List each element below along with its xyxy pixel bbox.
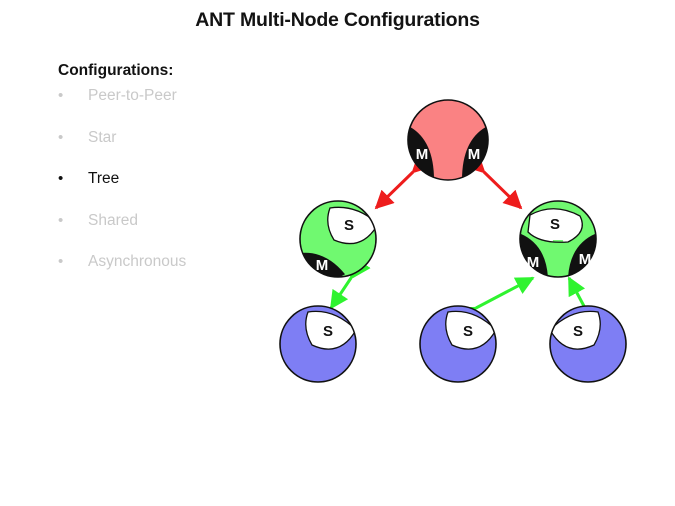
list-item-label: Tree <box>88 171 119 187</box>
node-label-slave: S <box>344 217 354 234</box>
bullet-icon: • <box>58 88 63 104</box>
link-mid-left-to-bot-left <box>331 278 351 308</box>
node-label-master-right: M <box>468 146 481 163</box>
link-top-to-mid-right <box>484 172 521 208</box>
list-item-star[interactable]: • Star <box>58 130 288 172</box>
node-label-master-right: M <box>579 251 592 268</box>
node-label-slave: S <box>573 323 583 340</box>
bullet-icon: • <box>58 213 63 229</box>
link-mid-right-to-bot-mid <box>476 278 533 308</box>
node-label-master-left: M <box>416 146 429 163</box>
configurations-list: • Peer-to-Peer • Star • Tree • Shared • … <box>58 88 288 296</box>
configurations-heading: Configurations: <box>58 62 173 80</box>
list-item-tree[interactable]: • Tree <box>58 171 288 213</box>
node-mid-left[interactable]: S M <box>298 201 378 281</box>
bullet-icon: • <box>58 171 63 187</box>
list-item-label: Peer-to-Peer <box>88 88 177 104</box>
list-item-label: Asynchronous <box>88 254 186 270</box>
node-label-slave: S <box>323 323 333 340</box>
node-label-master: M <box>316 257 329 274</box>
node-label-master-left: M <box>527 254 540 271</box>
link-top-to-mid-left <box>376 172 413 208</box>
list-item-peer-to-peer[interactable]: • Peer-to-Peer <box>58 88 288 130</box>
list-item-label: Shared <box>88 213 138 229</box>
list-item-shared[interactable]: • Shared <box>58 213 288 255</box>
page-title: ANT Multi-Node Configurations <box>0 9 675 32</box>
node-mid-right[interactable]: S M M <box>510 201 608 282</box>
bullet-icon: • <box>58 254 63 270</box>
node-label-slave: S <box>550 216 560 233</box>
link-mid-right-to-bot-right <box>569 278 585 308</box>
list-item-label: Star <box>88 130 116 146</box>
node-bottom-middle[interactable]: S <box>420 306 496 382</box>
bullet-icon: • <box>58 130 63 146</box>
node-bottom-right[interactable]: S <box>550 306 626 382</box>
node-label-slave: S <box>463 323 473 340</box>
slide-canvas: ANT Multi-Node Configurations Configurat… <box>0 0 675 506</box>
list-item-asynchronous[interactable]: • Asynchronous <box>58 254 288 296</box>
node-bottom-left[interactable]: S <box>280 306 356 382</box>
tree-topology-diagram: M M S M <box>258 82 668 402</box>
